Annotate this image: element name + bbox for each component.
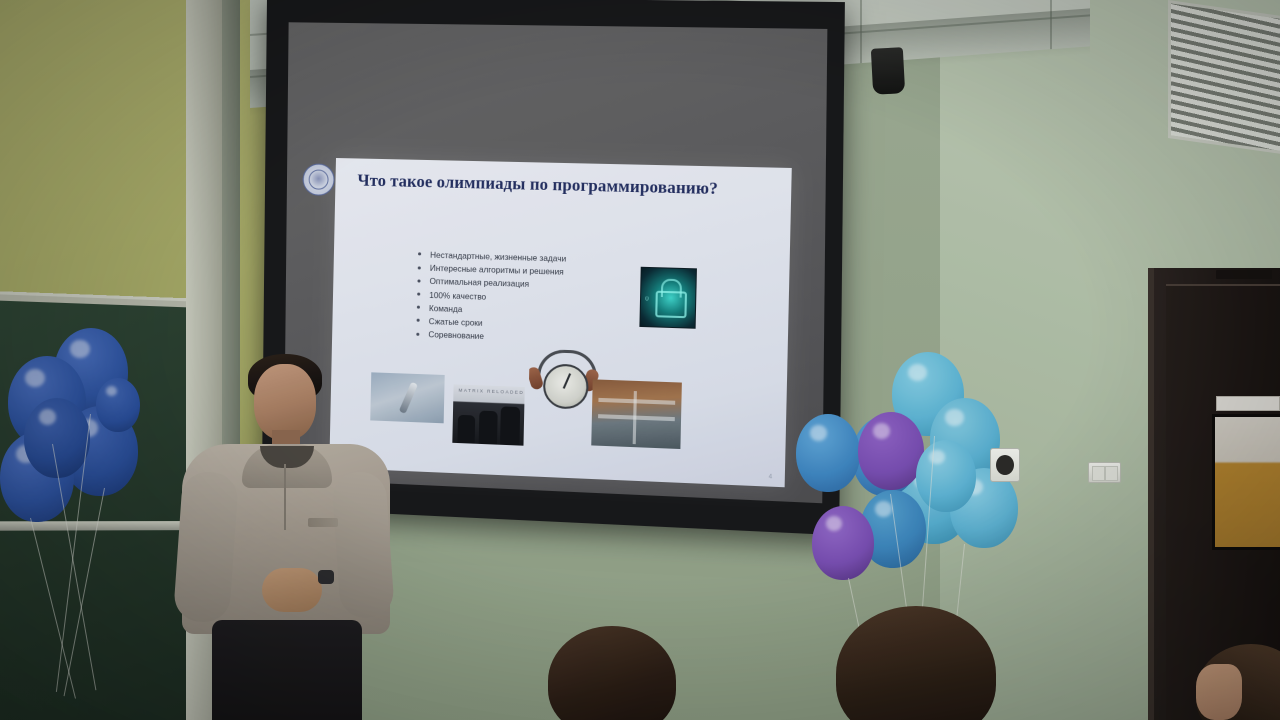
door-window-panel (1212, 414, 1280, 550)
competition-hall-image (591, 379, 682, 449)
audience-face (1196, 664, 1242, 720)
presenter-hands (262, 568, 322, 612)
door-sign (1216, 396, 1280, 411)
slide-number: 4 (769, 474, 773, 480)
balloon (858, 412, 924, 490)
presentation-slide: Что такое олимпиады по программированию?… (329, 158, 792, 487)
slide-bullet-list: Нестандартные, жизненные задачи Интересн… (376, 247, 653, 349)
presenter-pants (212, 620, 362, 720)
wall-outlet (990, 448, 1020, 482)
matrix-poster-image: MATRIX RELOADED (452, 384, 524, 445)
stopwatch-image (528, 345, 599, 421)
projector-screen-endcap (871, 47, 905, 95)
light-switch-panel[interactable] (1088, 462, 1121, 483)
classroom-presentation-scene: Что такое олимпиады по программированию?… (0, 0, 1280, 720)
presenter (176, 352, 396, 720)
presenter-face (254, 364, 316, 440)
slide-title: Что такое олимпиады по программированию? (357, 170, 768, 201)
wristwatch-icon (318, 570, 334, 584)
matrix-poster-caption: MATRIX RELOADED (458, 388, 524, 395)
digital-lock-caption: 0 (645, 296, 649, 302)
hvac-vent-grille (1168, 0, 1280, 156)
balloon (916, 440, 976, 512)
digital-lock-image: 0 (639, 267, 697, 329)
balloon (796, 414, 860, 492)
hoodie-logo-icon (308, 518, 338, 527)
balloon (96, 378, 140, 432)
balloon (812, 506, 874, 580)
